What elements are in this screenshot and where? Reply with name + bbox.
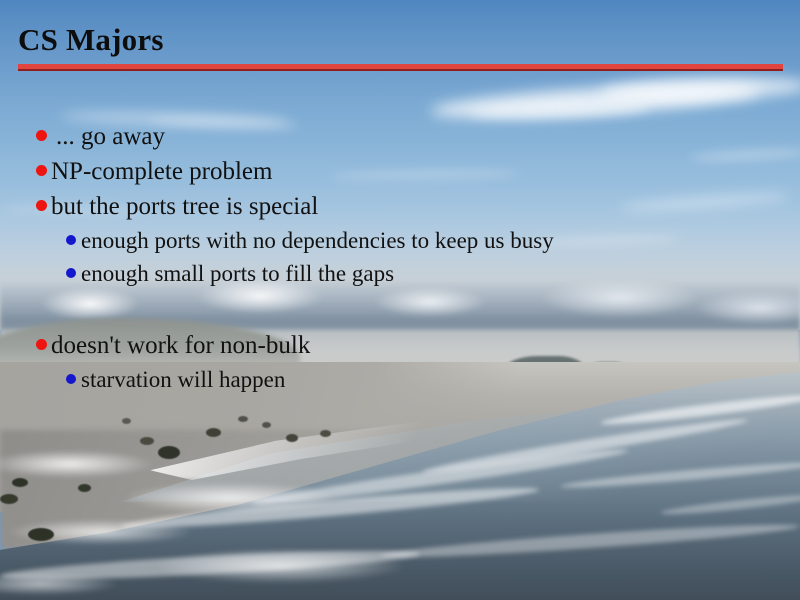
bullet-item: ... go away [0, 123, 800, 158]
presentation-slide: CS Majors ... go away NP-complete proble… [0, 0, 800, 600]
beach-stone [12, 478, 28, 487]
beach-stone [238, 416, 248, 422]
blue-dot-bullet-icon [66, 268, 76, 278]
bullet-text: NP-complete problem [51, 158, 272, 186]
red-dot-bullet-icon [36, 339, 47, 350]
beach-stone [0, 494, 18, 504]
bullet-item: NP-complete problem [0, 158, 800, 193]
beach-stone [320, 430, 331, 437]
bullet-text: starvation will happen [81, 367, 285, 393]
bullet-text: enough small ports to fill the gaps [81, 261, 394, 287]
beach-stone [140, 437, 154, 445]
bullet-text: but the ports tree is special [51, 193, 318, 221]
beach-stone [78, 484, 91, 492]
sub-bullet-item: starvation will happen [0, 367, 800, 400]
red-dot-bullet-icon [36, 200, 47, 211]
blue-dot-bullet-icon [66, 235, 76, 245]
beach-stone [122, 418, 131, 424]
bullet-spacer [0, 294, 800, 332]
bullet-text: ... go away [56, 123, 165, 151]
bullet-text: doesn't work for non-bulk [51, 332, 310, 360]
red-dot-bullet-icon [36, 165, 47, 176]
blue-dot-bullet-icon [66, 374, 76, 384]
bullet-item: but the ports tree is special [0, 193, 800, 228]
slide-title: CS Majors [18, 22, 164, 58]
beach-stone [286, 434, 298, 442]
bullet-list: ... go away NP-complete problem but the … [0, 123, 800, 400]
title-underline-rule [18, 64, 783, 71]
beach-stone [206, 428, 221, 437]
bullet-item: doesn't work for non-bulk [0, 332, 800, 367]
beach-stone [262, 422, 271, 428]
bullet-text: enough ports with no dependencies to kee… [81, 228, 554, 254]
red-dot-bullet-icon [36, 130, 47, 141]
beach-stone [158, 446, 180, 459]
beach-stone [28, 528, 54, 541]
sub-bullet-item: enough ports with no dependencies to kee… [0, 228, 800, 261]
sub-bullet-item: enough small ports to fill the gaps [0, 261, 800, 294]
